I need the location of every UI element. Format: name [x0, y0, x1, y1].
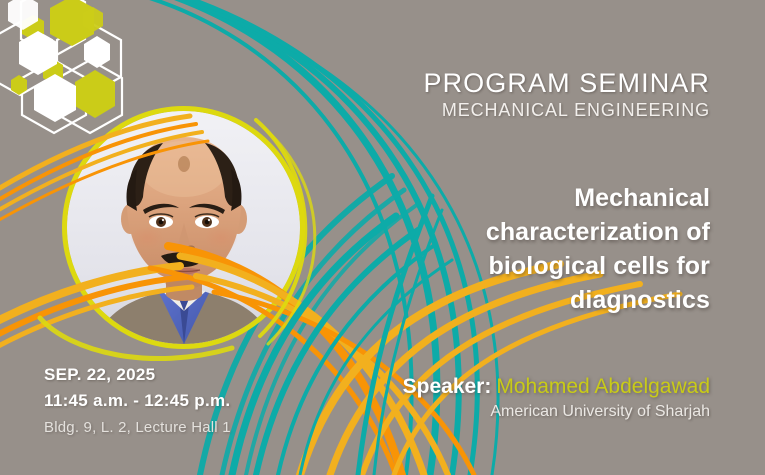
header-block: PROGRAM SEMINAR MECHANICAL ENGINEERING: [423, 69, 710, 122]
department-subtitle: MECHANICAL ENGINEERING: [423, 98, 710, 122]
event-location: Bldg. 9, L. 2, Lecture Hall 1: [44, 414, 231, 442]
seminar-poster: PROGRAM SEMINAR MECHANICAL ENGINEERING M…: [0, 0, 765, 475]
speaker-block: Speaker:Mohamed Abdelgawad American Univ…: [403, 374, 710, 424]
event-time: 11:45 a.m. - 12:45 p.m.: [44, 388, 231, 414]
talk-title: Mechanical characterization of biologica…: [390, 181, 710, 317]
event-details-block: SEP. 22, 2025 11:45 a.m. - 12:45 p.m. Bl…: [44, 362, 231, 442]
speaker-name: Mohamed Abdelgawad: [496, 375, 710, 398]
speaker-line: Speaker:Mohamed Abdelgawad: [403, 374, 710, 400]
page-title: PROGRAM SEMINAR: [423, 69, 710, 98]
speaker-affiliation: American University of Sharjah: [403, 400, 710, 424]
event-date: SEP. 22, 2025: [44, 362, 231, 388]
speaker-label: Speaker:: [403, 375, 492, 398]
